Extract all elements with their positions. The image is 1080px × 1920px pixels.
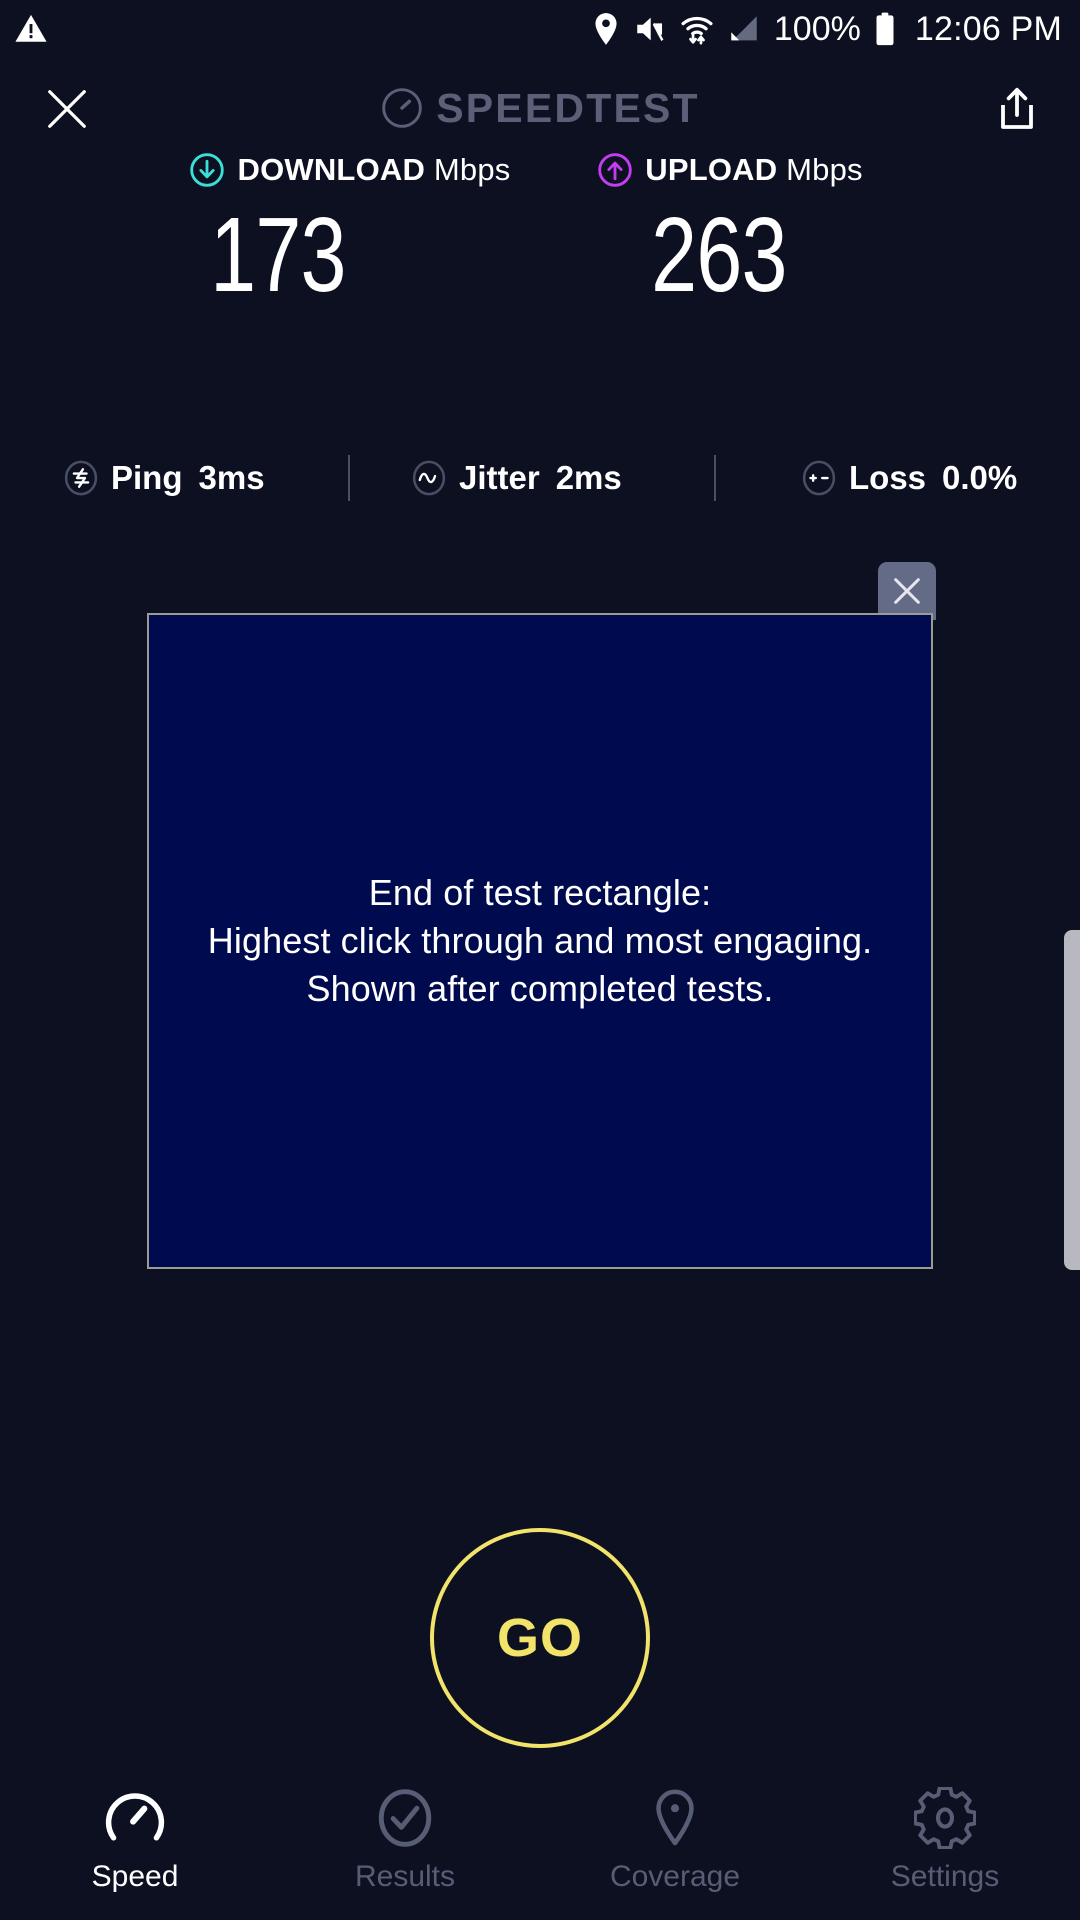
volume-muted-icon bbox=[633, 12, 667, 46]
download-header: DOWNLOAD Mbps bbox=[189, 148, 510, 192]
ad-line-3: Shown after completed tests. bbox=[208, 965, 872, 1013]
ping-jitter-loss-row: Ping 3ms Jitter 2ms bbox=[0, 448, 1080, 508]
check-circle-icon bbox=[374, 1782, 436, 1854]
brand-logo: SPEEDTEST bbox=[0, 76, 1080, 140]
packet-loss-icon bbox=[800, 459, 838, 497]
warning-triangle-icon bbox=[14, 12, 48, 46]
results-panel: DOWNLOAD Mbps 173 UPLOAD Mbps 263 bbox=[0, 148, 1080, 308]
speedometer-icon bbox=[380, 86, 424, 130]
jitter-metric: Jitter 2ms bbox=[410, 459, 622, 497]
upload-label: UPLOAD Mbps bbox=[645, 152, 863, 188]
nav-label-speed: Speed bbox=[92, 1860, 179, 1894]
arrow-up-circle-icon bbox=[597, 152, 633, 188]
speed-results-row: DOWNLOAD Mbps 173 UPLOAD Mbps 263 bbox=[0, 148, 1080, 308]
ad-line-2: Highest click through and most engaging. bbox=[208, 917, 872, 965]
ping-icon bbox=[62, 459, 100, 497]
ping-value: 3ms bbox=[199, 459, 265, 497]
loss-metric: Loss 0.0% bbox=[800, 459, 1017, 497]
loss-label: Loss bbox=[849, 459, 926, 497]
arrow-down-circle-icon bbox=[189, 152, 225, 188]
wifi-transfer-icon bbox=[680, 12, 714, 46]
scrollbar-thumb[interactable] bbox=[1064, 930, 1080, 1270]
nav-item-results[interactable]: Results bbox=[270, 1770, 540, 1920]
battery-percentage: 100% bbox=[774, 10, 861, 49]
status-bar-clock: 12:06 PM bbox=[915, 10, 1062, 49]
ad-close-button[interactable] bbox=[878, 562, 936, 620]
upload-result: UPLOAD Mbps 263 bbox=[540, 148, 920, 308]
advertisement-banner[interactable]: End of test rectangle: Highest click thr… bbox=[147, 613, 933, 1269]
divider bbox=[714, 455, 716, 501]
gear-icon bbox=[914, 1782, 976, 1854]
jitter-label: Jitter bbox=[459, 459, 540, 497]
share-button[interactable] bbox=[988, 80, 1046, 138]
nav-label-results: Results bbox=[355, 1860, 455, 1894]
upload-header: UPLOAD Mbps bbox=[597, 148, 863, 192]
nav-label-coverage: Coverage bbox=[610, 1860, 740, 1894]
jitter-value: 2ms bbox=[556, 459, 622, 497]
status-bar: 100% 12:06 PM bbox=[0, 0, 1080, 58]
jitter-wave-icon bbox=[410, 459, 448, 497]
cellular-signal-icon bbox=[727, 13, 761, 45]
ad-line-1: End of test rectangle: bbox=[208, 869, 872, 917]
upload-value: 263 bbox=[651, 202, 787, 308]
nav-label-settings: Settings bbox=[891, 1860, 999, 1894]
download-label: DOWNLOAD Mbps bbox=[237, 152, 510, 188]
ad-text: End of test rectangle: Highest click thr… bbox=[208, 869, 872, 1014]
location-pin-icon bbox=[592, 12, 620, 46]
ping-label: Ping bbox=[111, 459, 183, 497]
speedtest-app-screen: 100% 12:06 PM SPEEDTEST bbox=[0, 0, 1080, 1920]
app-header: SPEEDTEST bbox=[0, 60, 1080, 152]
ping-metric: Ping 3ms bbox=[62, 459, 265, 497]
go-button[interactable]: GO bbox=[430, 1528, 650, 1748]
brand-title: SPEEDTEST bbox=[436, 85, 700, 132]
status-bar-left bbox=[14, 12, 48, 46]
download-result: DOWNLOAD Mbps 173 bbox=[160, 148, 540, 308]
loss-value: 0.0% bbox=[942, 459, 1017, 497]
battery-full-icon bbox=[874, 12, 896, 46]
download-value: 173 bbox=[210, 202, 346, 308]
speedometer-icon bbox=[102, 1782, 168, 1854]
nav-item-speed[interactable]: Speed bbox=[0, 1770, 270, 1920]
bottom-navigation: Speed Results Coverage bbox=[0, 1770, 1080, 1920]
location-pin-icon bbox=[644, 1782, 706, 1854]
nav-item-coverage[interactable]: Coverage bbox=[540, 1770, 810, 1920]
nav-item-settings[interactable]: Settings bbox=[810, 1770, 1080, 1920]
go-button-label: GO bbox=[497, 1607, 583, 1669]
divider bbox=[348, 455, 350, 501]
status-bar-right: 100% 12:06 PM bbox=[592, 10, 1062, 49]
